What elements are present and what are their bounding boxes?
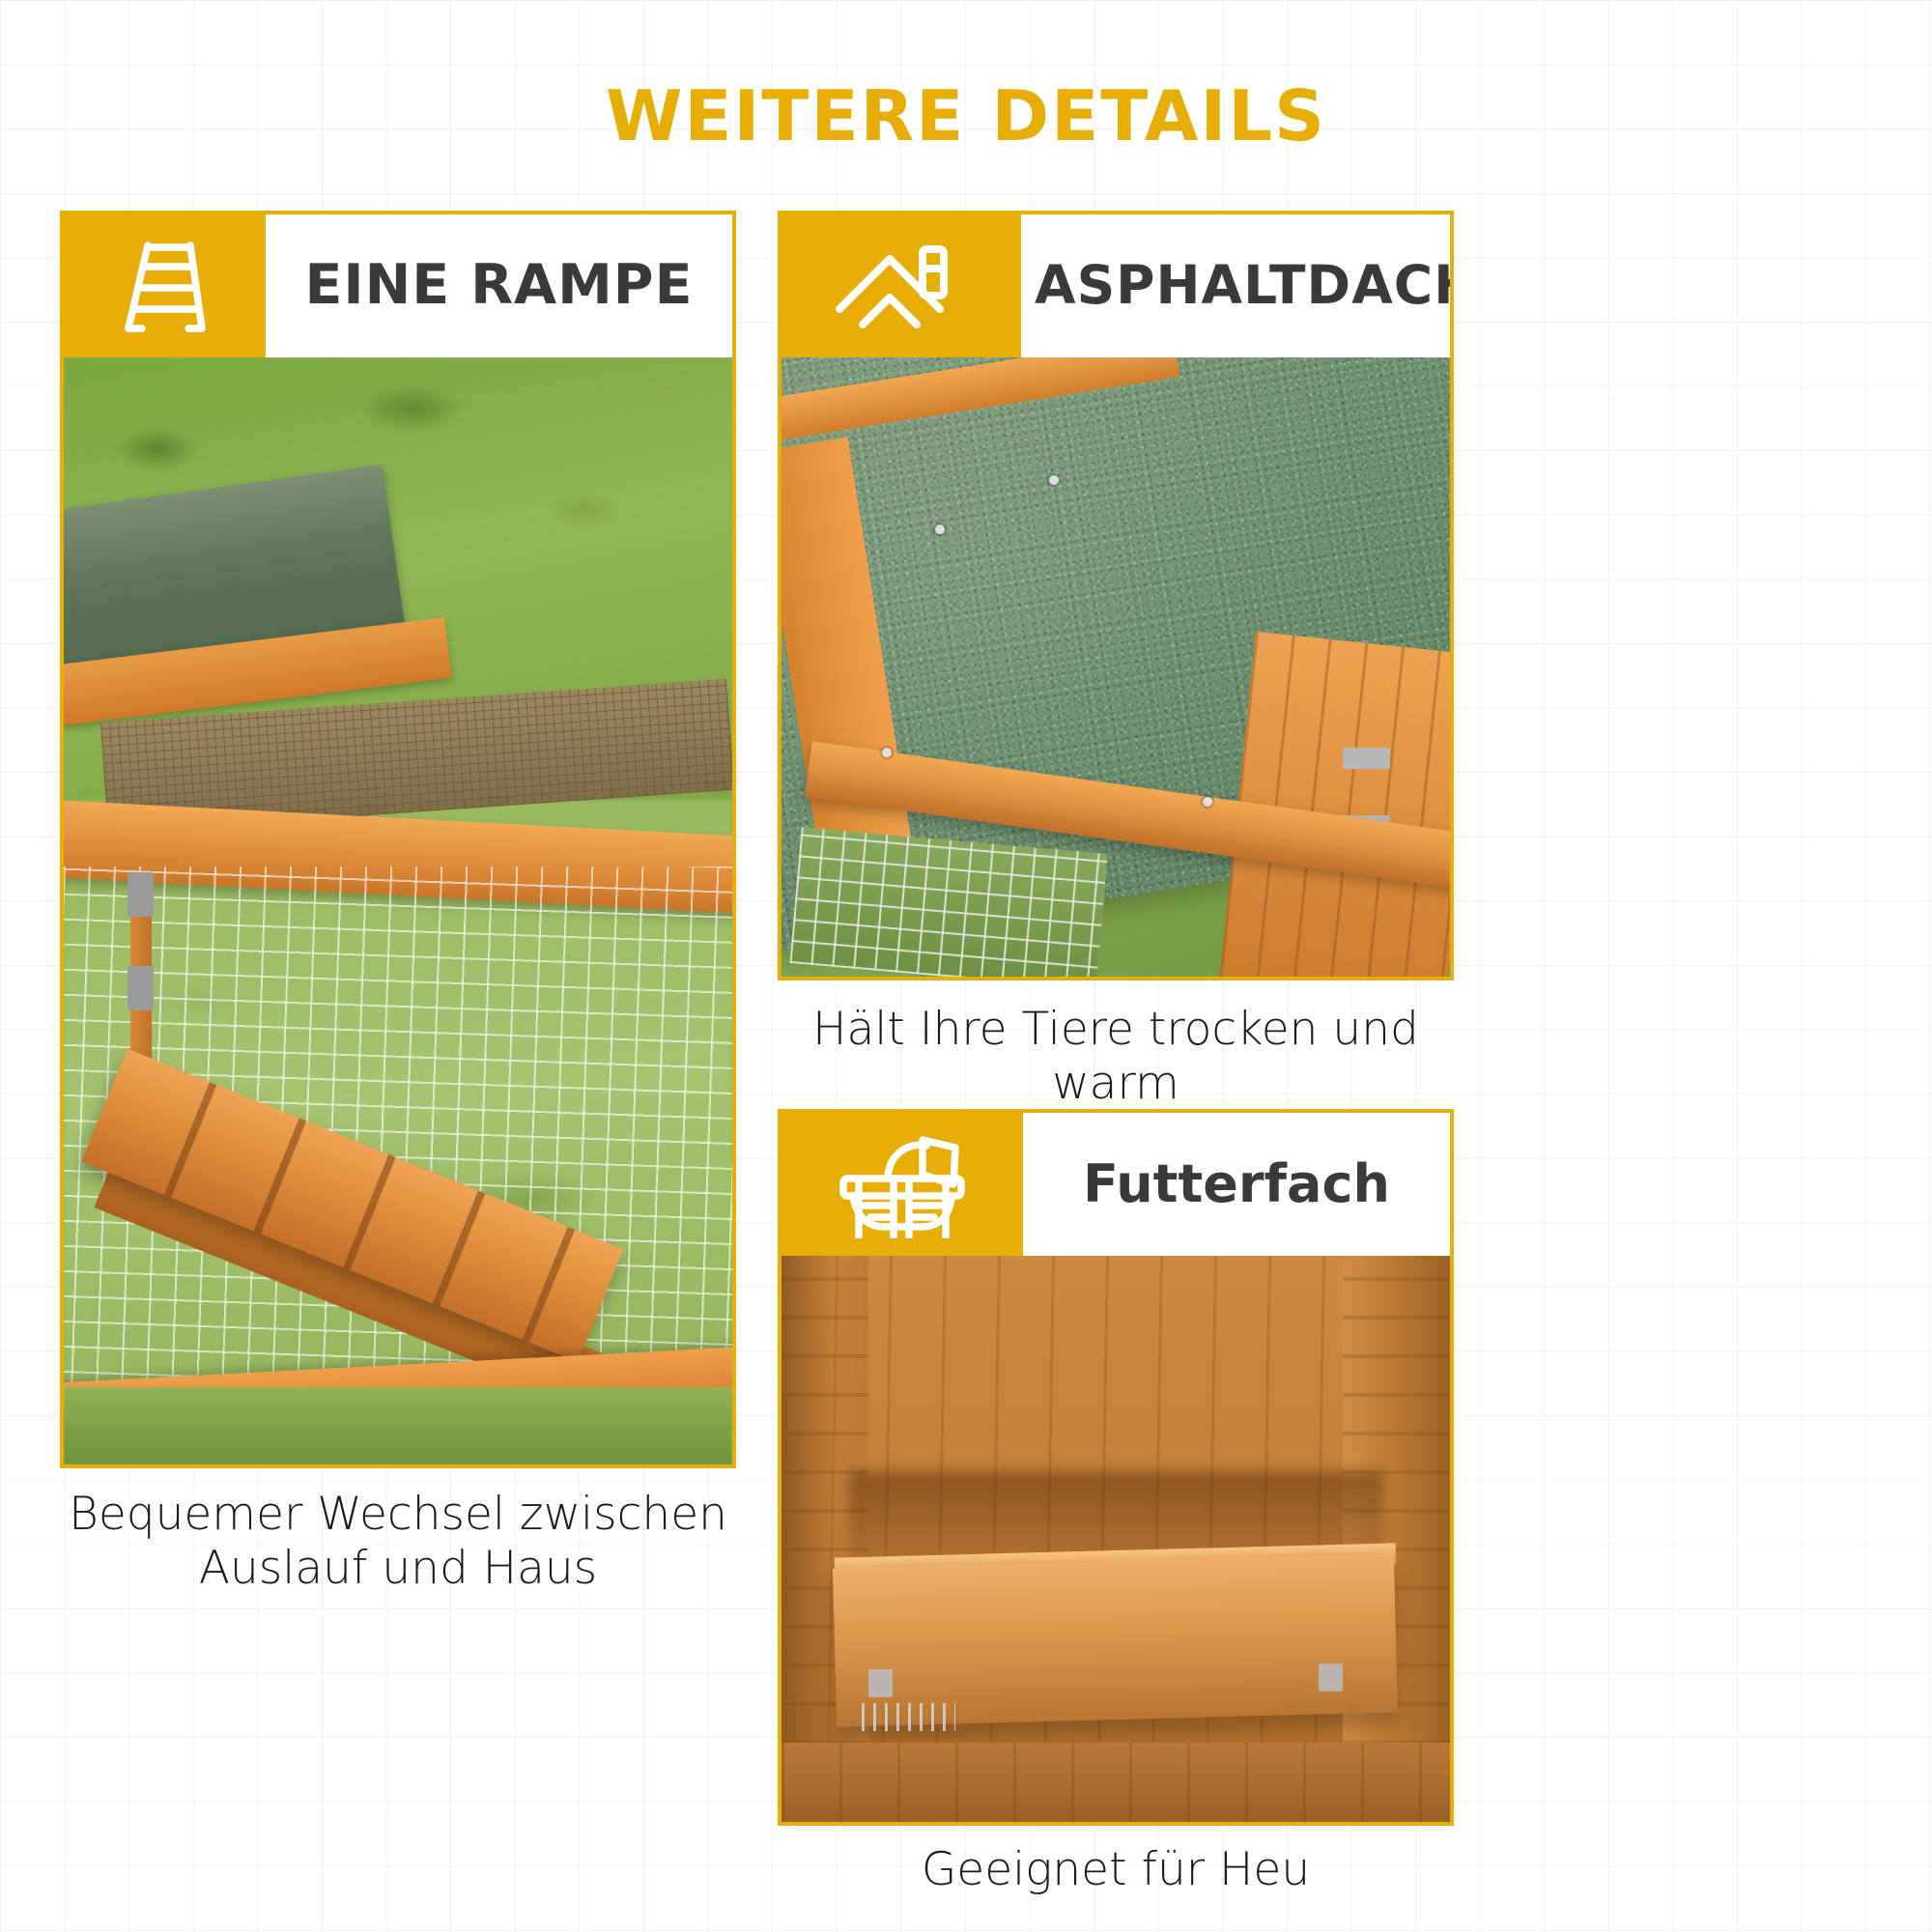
card-feeder-photo (781, 1256, 1450, 1822)
roof-photo-hinge-upper (1343, 748, 1389, 769)
roof-photo-screw (1049, 475, 1059, 485)
card-ramp-icon-badge (64, 214, 266, 357)
card-roof[interactable]: ASPHALTDACH (778, 211, 1454, 980)
feeder-photo-trough-body (833, 1554, 1398, 1727)
card-ramp-photo (64, 357, 732, 1464)
card-feeder-header: Futterfach (781, 1113, 1450, 1256)
card-ramp-title-wrap: EINE RAMPE (266, 214, 732, 357)
card-feeder-title: Futterfach (1083, 1156, 1390, 1212)
card-feeder-icon-badge (781, 1113, 1023, 1256)
card-feeder-caption-line-1: Geeignet für Heu (768, 1843, 1463, 1897)
ladder-icon (119, 236, 212, 336)
feeder-photo-staples (862, 1703, 955, 1731)
roof-photo-wire-mesh (789, 827, 1107, 977)
feeder-photo-bracket (1319, 1663, 1343, 1691)
ramp-photo-grass-strip (64, 1387, 732, 1464)
feeder-photo-floor (781, 1743, 1450, 1822)
card-ramp-caption-line-1: Bequemer Wechsel zwischen (60, 1488, 736, 1542)
card-feeder[interactable]: Futterfach (778, 1109, 1454, 1826)
card-roof-caption: Hält Ihre Tiere trocken und warm (768, 1003, 1463, 1112)
roof-chimney-icon (834, 241, 969, 330)
card-roof-photo (781, 357, 1450, 977)
ramp-photo-hinge-upper (128, 872, 155, 917)
card-ramp-header: EINE RAMPE (64, 214, 732, 357)
roof-photo-screw (1203, 797, 1212, 807)
card-roof-header: ASPHALTDACH (781, 214, 1450, 357)
feeder-photo-bracket (868, 1669, 893, 1697)
card-feeder-caption: Geeignet für Heu (768, 1843, 1463, 1897)
page-title: WEITERE DETAILS (0, 75, 1932, 156)
card-ramp-caption-line-2: Auslauf und Haus (60, 1542, 736, 1596)
feeding-trough-icon (830, 1130, 975, 1238)
card-roof-title-wrap: ASPHALTDACH (1021, 214, 1454, 357)
card-feeder-title-wrap: Futterfach (1023, 1113, 1450, 1256)
card-ramp-title: EINE RAMPE (304, 256, 693, 316)
card-ramp[interactable]: EINE RAMPE (60, 211, 736, 1468)
card-ramp-caption: Bequemer Wechsel zwischen Auslauf und Ha… (60, 1488, 736, 1597)
card-roof-title: ASPHALTDACH (1035, 257, 1454, 314)
card-roof-caption-line-1: Hält Ihre Tiere trocken und warm (768, 1003, 1463, 1112)
ramp-photo-hinge-lower (128, 966, 155, 1010)
card-roof-icon-badge (781, 214, 1021, 357)
roof-photo-screw (882, 748, 892, 757)
